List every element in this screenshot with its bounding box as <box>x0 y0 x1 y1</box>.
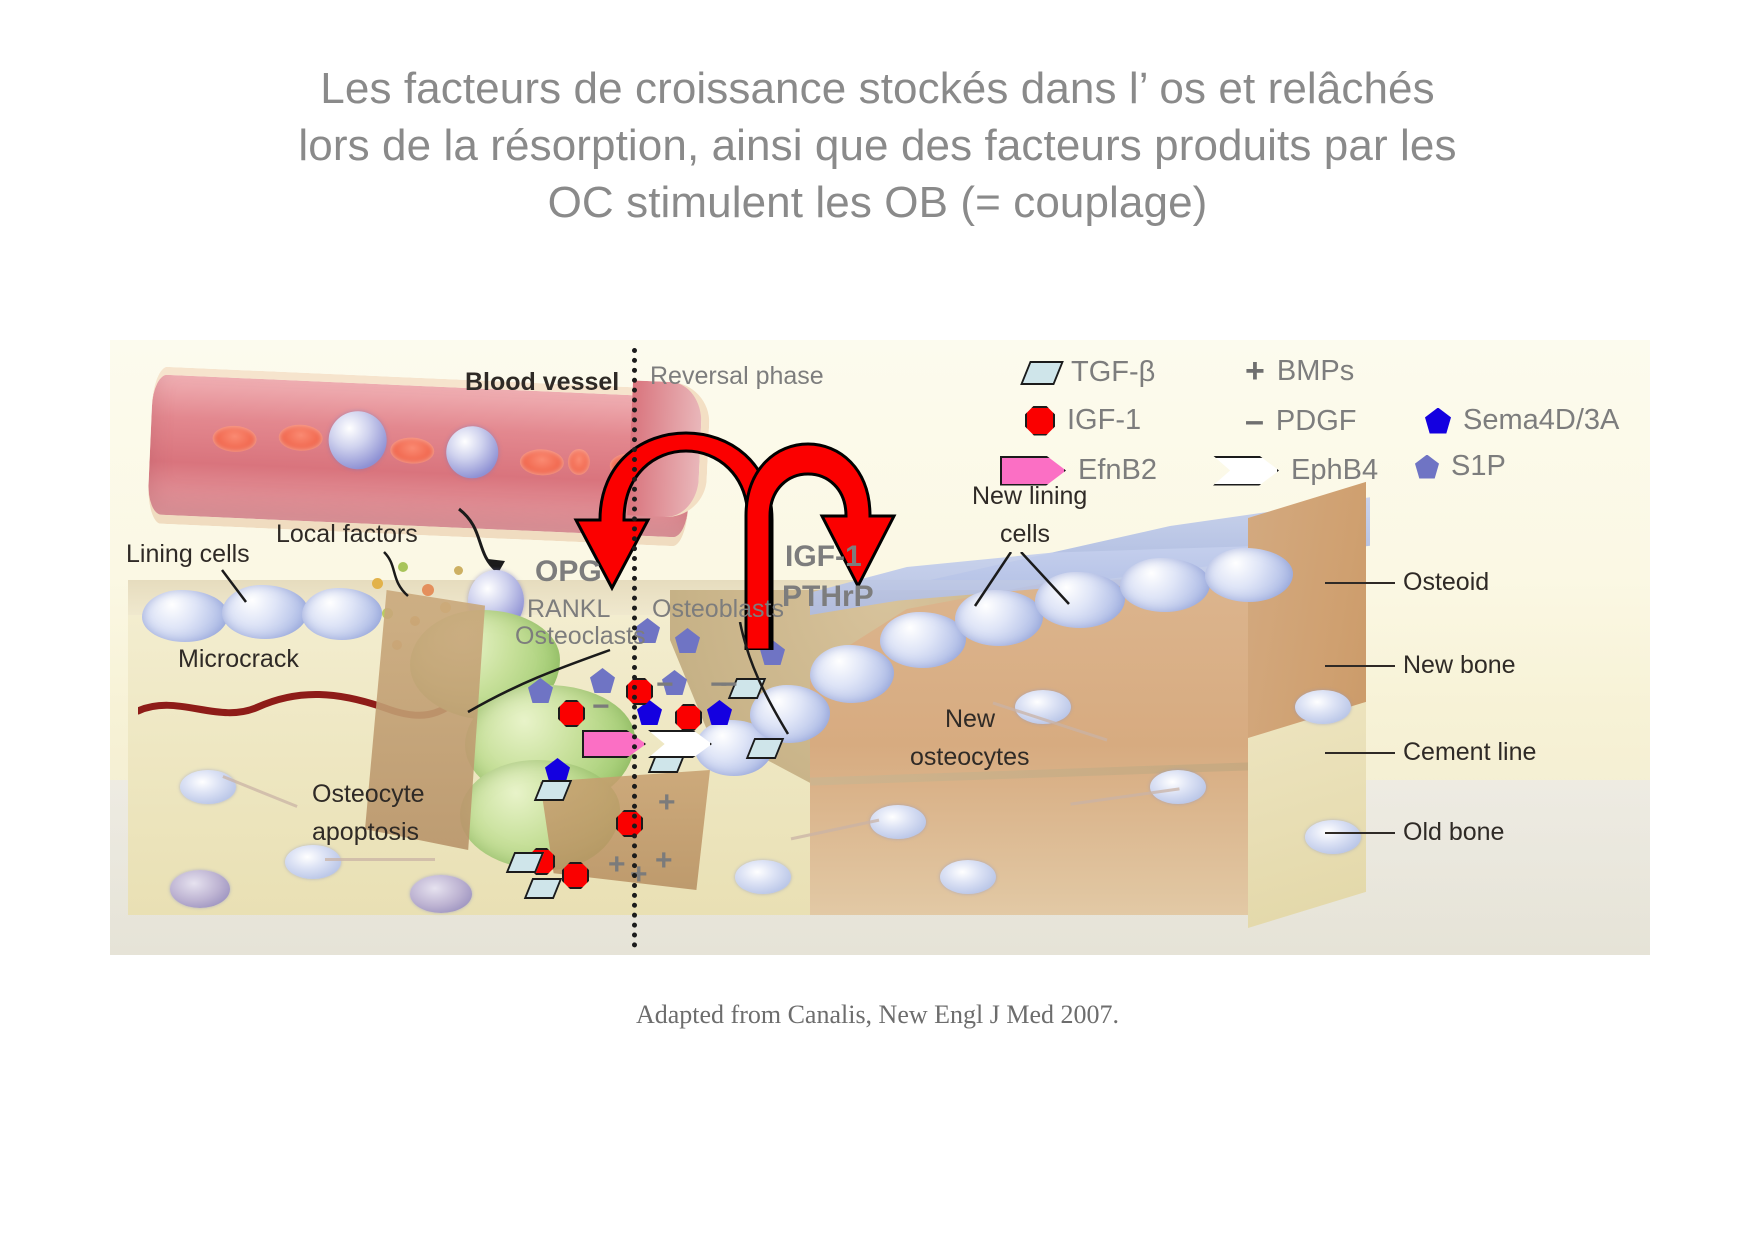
legend-label: Sema4D/3A <box>1463 404 1619 437</box>
igf1-red-octagon-icon <box>1025 406 1055 436</box>
new-osteocytes-label-line1: New <box>945 705 995 734</box>
osteocyte <box>1305 820 1361 854</box>
ephb4-white-arrow-icon <box>1213 456 1279 486</box>
title-line-3: OC stimulent les OB (= couplage) <box>0 174 1755 231</box>
new-bone-callout-label: New bone <box>1403 651 1516 680</box>
legend-label: TGF-β <box>1071 356 1155 389</box>
efnb2-pink-arrow-icon <box>1000 456 1066 486</box>
lining-cell <box>142 590 228 642</box>
legend-label: IGF-1 <box>1067 404 1141 437</box>
legend-label: EphB4 <box>1291 454 1378 487</box>
lining-cell <box>302 588 382 640</box>
local-factors-leader-line <box>378 550 428 600</box>
legend-label: BMPs <box>1277 355 1354 388</box>
osteocyte <box>180 770 236 804</box>
pthrp-annotation-label: PTHrP <box>782 580 874 614</box>
blood-vessel-label: Blood vessel <box>465 368 619 397</box>
legend-item-s1p: S1P <box>1415 450 1506 483</box>
new-lining-cells-label-line2: cells <box>1000 520 1050 549</box>
new-lining-cells-leader-lines <box>965 552 1085 612</box>
osteoid-callout-label: Osteoid <box>1403 568 1489 597</box>
apoptotic-osteocyte <box>170 870 230 908</box>
legend-label: EfnB2 <box>1078 454 1157 487</box>
osteoblast <box>810 645 894 703</box>
legend-item-pdgf: – PDGF <box>1245 404 1356 438</box>
osteoid-leader-line <box>1325 582 1395 584</box>
title-line-2: lors de la résorption, ainsi que des fac… <box>0 117 1755 174</box>
bone-slab-right-side-lower <box>1248 702 1366 928</box>
bone-remodelling-diagram: − − − − + + + + TGF-β + BMPs <box>110 340 1650 955</box>
osteocyte-apoptosis-label-line1: Osteocyte <box>312 780 425 809</box>
igf1-annotation-label: IGF-1 <box>785 540 862 574</box>
cement-line-leader-line <box>1325 752 1395 754</box>
s1p-violet-pentagon-icon <box>1415 455 1439 479</box>
legend-item-ephb4: EphB4 <box>1213 454 1378 487</box>
white-blood-cell <box>327 410 387 470</box>
old-bone-callout-label: Old bone <box>1403 818 1504 847</box>
source-attribution: Adapted from Canalis, New Engl J Med 200… <box>0 1000 1755 1030</box>
cement-line-callout-label: Cement line <box>1403 738 1536 767</box>
legend: TGF-β + BMPs IGF-1 – PDGF Sema4D/3A <box>945 346 1645 486</box>
lining-cells-label: Lining cells <box>126 540 250 569</box>
new-osteocytes-label-line2: osteocytes <box>910 743 1030 772</box>
rankl-label: RANKL <box>527 595 610 624</box>
new-osteocyte <box>1295 690 1351 724</box>
local-factors-label: Local factors <box>276 520 418 549</box>
new-lining-cell <box>1205 548 1293 602</box>
legend-item-igf1: IGF-1 <box>1025 404 1141 437</box>
new-lining-cells-label-line1: New lining <box>972 482 1087 511</box>
osteocyte <box>735 860 791 894</box>
microcrack-label: Microcrack <box>178 645 299 674</box>
canaliculus <box>325 858 435 861</box>
title-line-1: Les facteurs de croissance stockés dans … <box>0 60 1755 117</box>
page-title: Les facteurs de croissance stockés dans … <box>0 60 1755 232</box>
osteocyte <box>285 845 341 879</box>
new-bone-leader-line <box>1325 665 1395 667</box>
legend-label: PDGF <box>1276 405 1357 438</box>
osteoclasts-leader-line <box>460 640 620 720</box>
old-bone-leader-line <box>1325 832 1395 834</box>
new-osteocyte <box>870 805 926 839</box>
new-lining-cell <box>1120 558 1210 612</box>
osteocyte-apoptosis-label-line2: apoptosis <box>312 818 419 847</box>
tgf-beta-parallelogram-icon <box>1020 361 1064 385</box>
opg-label: OPG <box>535 555 602 589</box>
stimulation-sign: + <box>655 846 673 876</box>
stimulation-sign: + <box>658 788 676 818</box>
apoptotic-osteocyte <box>410 875 472 913</box>
legend-item-tgf-beta: TGF-β <box>1025 356 1155 389</box>
plus-sign-icon: + <box>1245 354 1265 388</box>
reversal-phase-label: Reversal phase <box>650 362 824 391</box>
inhibition-sign: − <box>656 670 674 700</box>
stimulation-sign: + <box>608 850 626 880</box>
osteoblasts-leader-line <box>688 622 798 742</box>
legend-label: S1P <box>1451 450 1506 483</box>
sema4d-blue-pentagon-icon <box>1425 408 1451 434</box>
legend-item-sema4d-3a: Sema4D/3A <box>1425 404 1619 437</box>
lining-cells-leader-line <box>220 568 260 608</box>
white-blood-cell <box>445 425 499 479</box>
osteoblasts-label: Osteoblasts <box>652 595 784 624</box>
legend-item-bmps: + BMPs <box>1245 354 1354 388</box>
new-osteocyte <box>940 860 996 894</box>
minus-sign-icon: – <box>1245 404 1264 438</box>
